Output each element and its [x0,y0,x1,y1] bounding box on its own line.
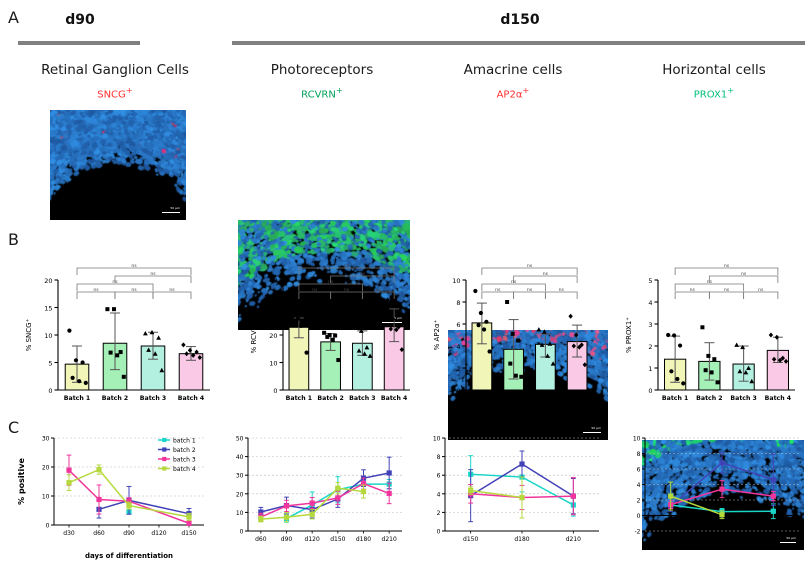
marker-sup: + [126,85,133,95]
svg-text:3: 3 [648,321,652,329]
column-title-rgc: Retinal Ganglion Cells [8,62,222,78]
svg-text:Batch 1: Batch 1 [286,395,312,402]
scalebar-line-1 [162,212,180,214]
svg-text:10: 10 [236,510,244,517]
svg-text:Batch 1: Batch 1 [469,395,495,402]
svg-text:ns: ns [559,288,565,293]
svg-text:4: 4 [456,343,460,351]
svg-text:ns: ns [360,272,366,277]
timepoint-d150-title: d150 [430,12,610,28]
svg-text:Batch 2: Batch 2 [696,395,722,402]
svg-text:ns: ns [169,288,175,293]
svg-text:d180: d180 [514,536,529,543]
svg-text:4: 4 [437,491,441,498]
svg-text:d150: d150 [181,530,196,537]
column-title-photoreceptors: Photoreceptors [232,62,412,78]
svg-text:days of differentiation: days of differentiation [85,552,173,560]
timepoint-d90-title: d90 [30,12,130,28]
svg-text:ns: ns [724,288,730,293]
svg-text:Batch 4: Batch 4 [381,395,408,402]
svg-text:2: 2 [437,510,441,517]
chart-panelB-sncg: 05101520% SNCG⁺Batch 1Batch 2Batch 3Batc… [20,252,220,420]
svg-text:ns: ns [131,264,137,269]
svg-text:d210: d210 [566,536,581,543]
svg-text:5: 5 [648,277,652,285]
svg-text:% positive: % positive [17,458,26,505]
svg-text:0: 0 [437,529,441,536]
svg-text:6: 6 [437,473,441,480]
svg-text:Batch 3: Batch 3 [349,395,375,402]
marker-text: SNCG [97,89,126,100]
svg-text:0: 0 [48,387,52,395]
svg-text:10: 10 [433,436,441,443]
svg-text:2: 2 [648,343,652,351]
svg-text:0: 0 [637,513,641,520]
svg-text:Batch 4: Batch 4 [178,395,205,402]
svg-text:d150: d150 [663,521,678,528]
svg-text:ns: ns [527,288,533,293]
svg-text:Batch 3: Batch 3 [140,395,166,402]
svg-text:2: 2 [456,365,460,373]
svg-text:20: 20 [44,277,52,285]
svg-text:8: 8 [637,451,641,458]
svg-text:Batch 1: Batch 1 [64,395,90,402]
svg-text:15: 15 [44,304,52,312]
column-marker-ap2a: AP2α+ [428,85,598,100]
svg-text:ns: ns [758,288,764,293]
svg-text:Batch 3: Batch 3 [730,395,756,402]
column-marker-rcvrn: RCVRN+ [232,85,412,100]
svg-text:10: 10 [452,277,460,285]
svg-text:6: 6 [637,467,641,474]
marker-text: RCVRN [301,89,336,100]
svg-text:Batch 2: Batch 2 [317,395,343,402]
svg-text:0: 0 [648,387,652,395]
svg-text:Batch 2: Batch 2 [500,395,526,402]
svg-text:0: 0 [456,387,460,395]
chart-panelB-ap2a: 0246810% AP2α⁺Batch 1Batch 2Batch 3Batch… [428,252,603,420]
svg-text:Batch 1: Batch 1 [662,395,688,402]
svg-text:ns: ns [376,288,382,293]
svg-text:0: 0 [240,529,244,536]
marker-text: PROX1 [694,89,727,100]
svg-text:Batch 4: Batch 4 [765,395,792,402]
svg-text:ns: ns [724,264,730,269]
svg-text:ns: ns [527,264,533,269]
svg-text:d180: d180 [714,521,729,528]
svg-text:10: 10 [633,436,641,443]
svg-text:Batch 4: Batch 4 [564,395,591,402]
divider-d150 [232,41,805,45]
column-marker-prox1: PROX1+ [624,85,804,100]
svg-text:0: 0 [46,523,50,530]
svg-text:4: 4 [648,299,652,307]
svg-text:d210: d210 [766,521,781,528]
svg-text:1: 1 [648,365,652,373]
svg-text:ns: ns [150,272,156,277]
column-title-amacrine: Amacrine cells [428,62,598,78]
svg-text:40: 40 [236,454,244,461]
micrograph-sncg: 50 µm [50,110,186,220]
svg-text:d150: d150 [463,536,478,543]
svg-text:10: 10 [44,332,52,340]
svg-text:20: 20 [42,465,50,472]
svg-text:d60: d60 [93,530,105,537]
chart-panelB-prox1: 012345% PROX1⁺Batch 1Batch 2Batch 3Batch… [620,252,805,420]
svg-text:ns: ns [543,272,549,277]
svg-text:batch 3: batch 3 [173,456,196,463]
svg-text:ns: ns [344,288,350,293]
svg-text:batch 4: batch 4 [173,466,196,473]
svg-text:% RCVRN⁺: % RCVRN⁺ [250,316,258,353]
svg-text:ns: ns [495,288,501,293]
svg-text:d210: d210 [382,536,397,543]
svg-text:30: 30 [42,436,50,443]
svg-text:6: 6 [456,321,460,329]
chart-panelB-rcvrn: 010203040% RCVRN⁺Batch 1Batch 2Batch 3Ba… [245,252,420,420]
svg-text:ns: ns [690,288,696,293]
svg-text:d90: d90 [123,530,135,537]
column-title-horizontal: Horizontal cells [624,62,804,78]
svg-text:ns: ns [93,288,99,293]
svg-text:d60: d60 [255,536,267,543]
marker-sup: + [336,85,343,95]
panel-label-a: A [8,8,19,27]
svg-text:30: 30 [236,473,244,480]
svg-text:20: 20 [236,491,244,498]
svg-text:ns: ns [312,288,318,293]
svg-text:% PROX1⁺: % PROX1⁺ [625,317,633,353]
svg-text:5: 5 [48,359,52,367]
divider-d90 [18,41,140,45]
svg-text:40: 40 [269,277,277,285]
svg-text:10: 10 [42,494,50,501]
svg-text:-2: -2 [635,529,641,536]
marker-sup: + [522,85,529,95]
svg-text:% SNCG⁺: % SNCG⁺ [25,318,33,351]
marker-text: AP2α [497,89,523,100]
svg-text:20: 20 [269,332,277,340]
svg-text:d30: d30 [63,530,75,537]
svg-text:d180: d180 [356,536,371,543]
svg-text:50: 50 [236,436,244,443]
svg-text:batch 1: batch 1 [173,437,196,444]
svg-text:2: 2 [637,498,641,505]
svg-text:0: 0 [273,387,277,395]
svg-text:Batch 3: Batch 3 [532,395,558,402]
svg-text:d90: d90 [281,536,293,543]
marker-sup: + [727,85,734,95]
svg-text:Batch 2: Batch 2 [102,395,128,402]
svg-text:10: 10 [269,359,277,367]
chart-panelC-sncg: 0102030d30d60d90d120d150% positivedays o… [14,428,210,561]
svg-text:d120: d120 [305,536,320,543]
panel-label-b: B [8,230,19,249]
chart-panelC-rcvrn: 01020304050d60d90d120d150d180d210 [218,428,408,561]
svg-text:d150: d150 [330,536,345,543]
svg-text:d120: d120 [151,530,166,537]
chart-panelC-prox1: -20246810d150d180d210 [615,428,805,561]
svg-text:8: 8 [456,299,460,307]
svg-text:ns: ns [344,264,350,269]
svg-text:ns: ns [131,288,137,293]
scalebar-label-1: 50 µm [170,206,180,210]
svg-text:batch 2: batch 2 [173,447,196,454]
svg-text:30: 30 [269,304,277,312]
svg-text:ns: ns [741,272,747,277]
chart-panelC-ap2a: 0246810d150d180d210 [415,428,605,561]
svg-text:4: 4 [637,482,641,489]
svg-text:8: 8 [437,454,441,461]
svg-text:% AP2α⁺: % AP2α⁺ [433,319,441,350]
column-marker-sncg: SNCG+ [8,85,222,100]
